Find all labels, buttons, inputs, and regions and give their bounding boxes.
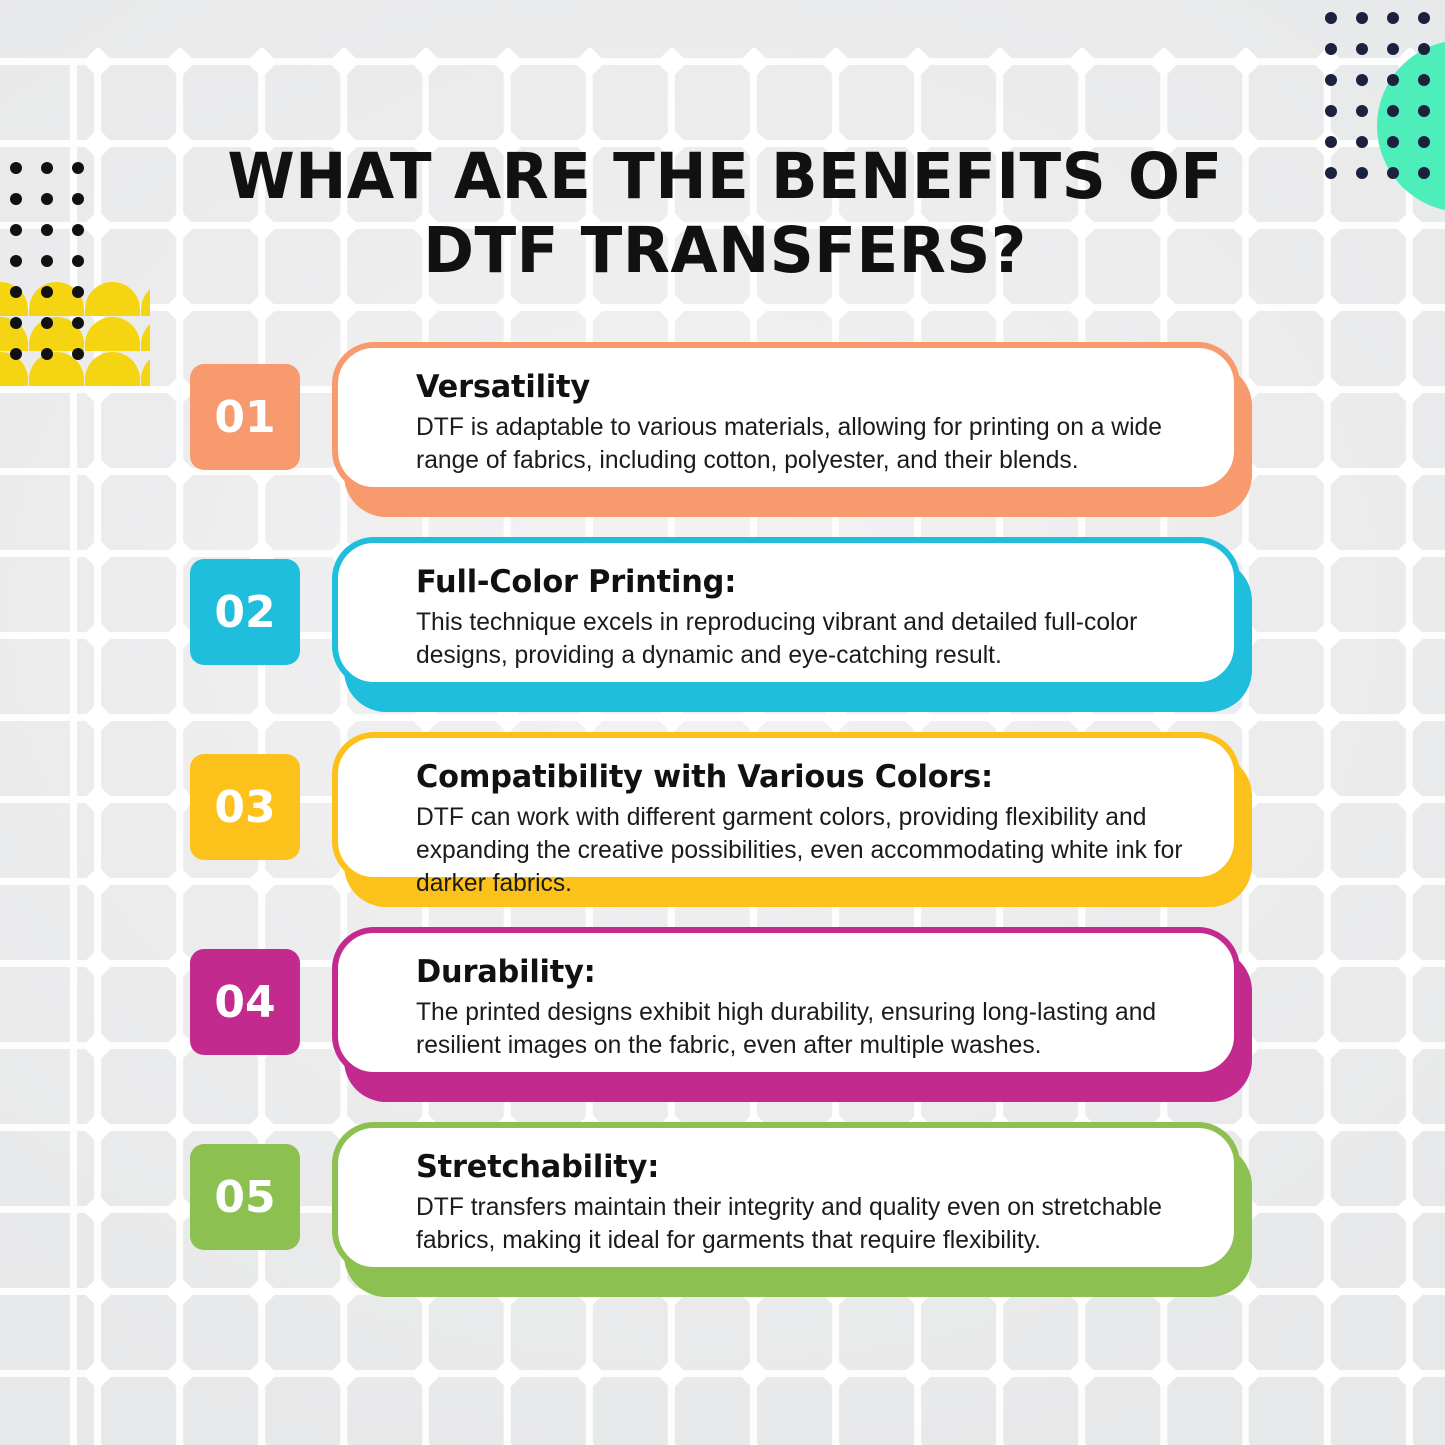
semicircle	[141, 282, 150, 316]
decor-dot	[1418, 43, 1430, 55]
grid-diamond	[1230, 292, 1261, 323]
grid-diamond	[574, 46, 605, 77]
grid-diamond	[902, 292, 933, 323]
grid-diamond	[328, 1358, 359, 1389]
decor-dot	[41, 162, 53, 174]
benefit-title: Stretchability:	[416, 1148, 1190, 1186]
decor-dot	[1325, 43, 1337, 55]
benefit-card-content: Compatibility with Various Colors:DTF ca…	[416, 758, 1206, 900]
benefit-title: Versatility	[416, 368, 1190, 406]
grid-diamond	[1148, 292, 1179, 323]
grid-diamond	[820, 292, 851, 323]
benefit-title: Full-Color Printing:	[416, 563, 1190, 601]
grid-diamond	[328, 292, 359, 323]
grid-diamond	[656, 1358, 687, 1389]
grid-diamond	[164, 1440, 195, 1445]
grid-diamond	[410, 1358, 441, 1389]
decor-dot	[1325, 167, 1337, 179]
grid-diamond	[1394, 292, 1425, 323]
benefit-number-badge: 05	[190, 1144, 300, 1250]
benefit-description: DTF can work with different garment colo…	[416, 801, 1194, 900]
grid-diamond	[1148, 46, 1179, 77]
grid-diamond	[492, 1440, 523, 1445]
decor-dot	[1387, 43, 1399, 55]
decor-dot	[72, 193, 84, 205]
grid-diamond	[1148, 1440, 1179, 1445]
grid-diamond	[820, 46, 851, 77]
decor-dot	[10, 162, 22, 174]
grid-diamond	[246, 1440, 277, 1445]
decor-dot	[1387, 12, 1399, 24]
grid-diamond	[164, 46, 195, 77]
grid-diamond	[656, 1440, 687, 1445]
benefit-number: 05	[214, 1172, 275, 1223]
decor-dot	[41, 224, 53, 236]
decor-dot	[1356, 12, 1368, 24]
grid-diamond	[984, 46, 1015, 77]
grid-diamond	[246, 46, 277, 77]
benefit-description: DTF is adaptable to various materials, a…	[416, 411, 1194, 477]
grid-diamond	[984, 1358, 1015, 1389]
decor-dot	[41, 193, 53, 205]
decor-dot	[1356, 105, 1368, 117]
decor-dot	[1418, 12, 1430, 24]
grid-diamond	[984, 292, 1015, 323]
benefit-number: 03	[214, 782, 275, 833]
benefit-title: Compatibility with Various Colors:	[416, 758, 1190, 796]
grid-diamond	[246, 292, 277, 323]
decor-dot	[72, 255, 84, 267]
decor-dot	[72, 224, 84, 236]
benefit-number-badge: 01	[190, 364, 300, 470]
benefit-number-badge: 03	[190, 754, 300, 860]
decor-dot	[1325, 74, 1337, 86]
benefit-card-content: VersatilityDTF is adaptable to various m…	[416, 368, 1206, 477]
black-dot-grid-decoration	[10, 162, 110, 362]
grid-diamond	[164, 1358, 195, 1389]
benefit-description: The printed designs exhibit high durabil…	[416, 996, 1194, 1062]
grid-diamond	[1312, 1358, 1343, 1389]
benefit-card-content: Durability:The printed designs exhibit h…	[416, 953, 1206, 1062]
benefit-card[interactable]: VersatilityDTF is adaptable to various m…	[332, 342, 1252, 517]
decor-dot	[10, 317, 22, 329]
decor-dot	[41, 286, 53, 298]
benefit-row[interactable]: 05Stretchability:DTF transfers maintain …	[0, 1122, 1445, 1317]
grid-diamond	[1066, 46, 1097, 77]
grid-diamond	[820, 1358, 851, 1389]
benefit-card-content: Full-Color Printing:This technique excel…	[416, 563, 1206, 672]
grid-diamond	[1312, 1440, 1343, 1445]
decor-dot	[1418, 105, 1430, 117]
decor-dot	[1387, 167, 1399, 179]
benefit-number-badge: 04	[190, 949, 300, 1055]
benefit-card-surface[interactable]: Durability:The printed designs exhibit h…	[332, 927, 1240, 1078]
page-title: WHAT ARE THE BENEFITS OF DTF TRANSFERS?	[187, 140, 1264, 288]
grid-diamond	[820, 1440, 851, 1445]
grid-diamond	[1148, 1358, 1179, 1389]
grid-diamond	[492, 292, 523, 323]
grid-diamond	[328, 46, 359, 77]
benefit-row[interactable]: 01VersatilityDTF is adaptable to various…	[0, 342, 1445, 537]
benefit-card[interactable]: Full-Color Printing:This technique excel…	[332, 537, 1252, 712]
decor-dot	[1356, 167, 1368, 179]
grid-diamond	[1230, 1358, 1261, 1389]
grid-diamond	[82, 1440, 113, 1445]
grid-diamond	[410, 292, 441, 323]
decor-dot	[1325, 12, 1337, 24]
benefit-card-surface[interactable]: VersatilityDTF is adaptable to various m…	[332, 342, 1240, 493]
grid-diamond	[902, 46, 933, 77]
decor-dot	[1325, 105, 1337, 117]
grid-diamond	[410, 46, 441, 77]
grid-diamond	[574, 1440, 605, 1445]
decor-dot	[1356, 136, 1368, 148]
grid-diamond	[1066, 292, 1097, 323]
infographic-poster: WHAT ARE THE BENEFITS OF DTF TRANSFERS? …	[0, 0, 1445, 1445]
decor-dot	[1418, 74, 1430, 86]
decor-dot	[1325, 136, 1337, 148]
decor-dot	[72, 286, 84, 298]
benefit-description: DTF transfers maintain their integrity a…	[416, 1191, 1194, 1257]
grid-diamond	[1230, 46, 1261, 77]
grid-diamond	[1066, 1440, 1097, 1445]
decor-dot	[41, 255, 53, 267]
benefit-number-badge: 02	[190, 559, 300, 665]
navy-dot-grid-decoration	[1325, 12, 1445, 192]
decor-dot	[10, 193, 22, 205]
grid-diamond	[1394, 1440, 1425, 1445]
grid-diamond	[1394, 1358, 1425, 1389]
grid-diamond	[656, 46, 687, 77]
grid-diamond	[738, 292, 769, 323]
benefit-row[interactable]: 03Compatibility with Various Colors:DTF …	[0, 732, 1445, 927]
grid-diamond	[1312, 292, 1343, 323]
benefit-row[interactable]: 04Durability:The printed designs exhibit…	[0, 927, 1445, 1122]
benefit-card[interactable]: Compatibility with Various Colors:DTF ca…	[332, 732, 1252, 907]
grid-diamond	[1312, 210, 1343, 241]
benefit-description: This technique excels in reproducing vib…	[416, 606, 1194, 672]
grid-diamond	[82, 1358, 113, 1389]
benefit-card-surface[interactable]: Stretchability:DTF transfers maintain th…	[332, 1122, 1240, 1273]
benefit-card-surface[interactable]: Full-Color Printing:This technique excel…	[332, 537, 1240, 688]
grid-diamond	[738, 46, 769, 77]
grid-diamond	[492, 1358, 523, 1389]
grid-diamond	[574, 292, 605, 323]
grid-diamond	[164, 292, 195, 323]
grid-diamond	[492, 46, 523, 77]
decor-dot	[72, 162, 84, 174]
grid-diamond	[1066, 1358, 1097, 1389]
benefit-list: 01VersatilityDTF is adaptable to various…	[0, 342, 1445, 1317]
grid-diamond	[984, 1440, 1015, 1445]
benefit-title: Durability:	[416, 953, 1190, 991]
benefit-card[interactable]: Durability:The printed designs exhibit h…	[332, 927, 1252, 1102]
decor-dot	[1387, 105, 1399, 117]
decor-dot	[72, 317, 84, 329]
decor-dot	[41, 317, 53, 329]
benefit-card[interactable]: Stretchability:DTF transfers maintain th…	[332, 1122, 1252, 1297]
benefit-card-content: Stretchability:DTF transfers maintain th…	[416, 1148, 1206, 1257]
benefit-number: 02	[214, 587, 275, 638]
grid-diamond	[574, 1358, 605, 1389]
decor-dot	[10, 286, 22, 298]
decor-dot	[10, 255, 22, 267]
benefit-row[interactable]: 02Full-Color Printing:This technique exc…	[0, 537, 1445, 732]
grid-diamond	[1230, 1440, 1261, 1445]
grid-diamond	[82, 128, 113, 159]
grid-diamond	[328, 1440, 359, 1445]
benefit-card-surface[interactable]: Compatibility with Various Colors:DTF ca…	[332, 732, 1240, 883]
benefit-number: 01	[214, 392, 275, 443]
grid-diamond	[902, 1358, 933, 1389]
decor-dot	[1418, 136, 1430, 148]
grid-diamond	[738, 1358, 769, 1389]
grid-diamond	[410, 1440, 441, 1445]
grid-diamond	[82, 46, 113, 77]
decor-dot	[1418, 167, 1430, 179]
decor-dot	[10, 224, 22, 236]
decor-dot	[1356, 43, 1368, 55]
decor-dot	[1356, 74, 1368, 86]
benefit-number: 04	[214, 977, 275, 1028]
grid-diamond	[246, 1358, 277, 1389]
grid-diamond	[902, 1440, 933, 1445]
decor-dot	[1387, 74, 1399, 86]
decor-dot	[1387, 136, 1399, 148]
grid-diamond	[738, 1440, 769, 1445]
grid-diamond	[1394, 210, 1425, 241]
grid-diamond	[656, 292, 687, 323]
